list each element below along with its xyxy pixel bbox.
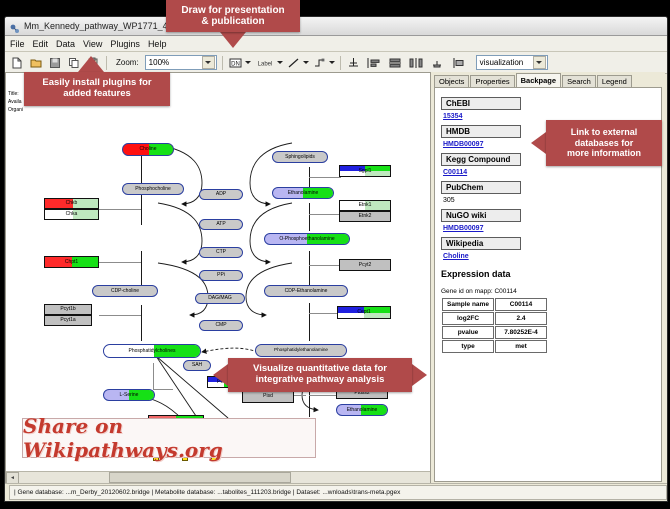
node-etnk1[interactable]: Etnk1 (339, 200, 391, 211)
tab-backpage[interactable]: Backpage (516, 73, 561, 87)
node-pcyt2[interactable]: Pcyt2 (339, 259, 391, 271)
section-header-nugo: NuGO wiki (441, 209, 521, 222)
cell-label: type (442, 340, 494, 353)
share-banner: Share on Wikipathways.org (22, 418, 316, 458)
node-cdp-ethanolamine[interactable]: CDP-Ethanolamine (264, 285, 348, 297)
gene-connector (153, 389, 173, 390)
menu-view[interactable]: View (83, 39, 102, 49)
gene-connector (99, 262, 141, 263)
zoom-value: 100% (149, 58, 169, 67)
status-text: | Gene database: ...m_Derby_20120602.bri… (9, 485, 667, 500)
section-header-kegg: Kegg Compound (441, 153, 521, 166)
distribute-icon[interactable] (407, 55, 425, 71)
callout-draw: Draw for presentation & publication (166, 0, 300, 32)
callout-visualize-line1: Visualize quantitative data for (253, 363, 387, 374)
tab-objects[interactable]: Objects (434, 75, 469, 87)
chevron-down-icon[interactable] (533, 56, 546, 69)
callout-visualize-arrow-right-icon (412, 364, 427, 386)
canvas-hscrollbar[interactable]: ◄ (6, 471, 430, 483)
statusbar: | Gene database: ...m_Derby_20120602.bri… (5, 483, 667, 501)
section-header-hmdb: HMDB (441, 125, 521, 138)
node-cmp[interactable]: CMP (199, 320, 243, 331)
node-ethanolamine[interactable]: Ethanolamine (272, 187, 334, 199)
connector-tool-icon[interactable] (312, 55, 335, 71)
edge (141, 305, 142, 341)
callout-plugins: Easily install plugins for added feature… (24, 72, 170, 106)
node-sgpl1[interactable]: Sgpl1 (339, 165, 391, 177)
callout-plugins-arrow-icon (78, 56, 104, 72)
callout-visualize: Visualize quantitative data for integrat… (228, 358, 412, 392)
table-row: Sample name C00114 (442, 298, 547, 311)
callout-link-line3: more information (567, 148, 641, 158)
open-icon[interactable] (28, 55, 44, 71)
chevron-down-icon[interactable] (202, 56, 215, 69)
node-o-phosphoethanolamine[interactable]: O-Phosphoethanolamine (264, 233, 350, 245)
edge (141, 251, 142, 285)
tab-legend[interactable]: Legend (597, 75, 632, 87)
menu-data[interactable]: Data (56, 39, 75, 49)
share-banner-text: Share on Wikipathways.org (23, 414, 315, 462)
gene-connector (309, 395, 337, 396)
section-header-chebi: ChEBI (441, 97, 521, 110)
callout-draw-arrow-icon (220, 32, 246, 48)
node-phosphocholine[interactable]: Phosphocholine (122, 183, 184, 195)
line-tool-icon[interactable] (286, 55, 309, 71)
window-titlebar: Mm_Kennedy_pathway_WP1771_45176.gpml (5, 17, 667, 36)
group-icon[interactable] (428, 55, 446, 71)
node-choline-top[interactable]: Choline (122, 143, 174, 156)
callout-link-line2: databases for (575, 138, 634, 148)
gene-connector (309, 177, 341, 178)
node-cept1[interactable]: Cept1 (337, 306, 391, 319)
node-etnk2[interactable]: Etnk2 (339, 211, 391, 222)
save-icon[interactable] (47, 55, 63, 71)
gene-connector (309, 265, 341, 266)
svg-text:DN: DN (231, 61, 240, 67)
gene-id-line: Gene id on mapp: C00114 (441, 288, 657, 295)
node-phosphatidylethanolamine[interactable]: Phosphatidylethanolamine (255, 344, 347, 357)
node-dagmag[interactable]: DAG/MAG (195, 293, 245, 304)
node-phosphatidylcholines[interactable]: Phosphatidylcholines (103, 344, 201, 358)
app-icon (9, 21, 20, 32)
gene-connector (309, 313, 337, 314)
edge (309, 251, 310, 285)
visualization-value: visualization (480, 58, 524, 67)
node-ppi[interactable]: PPi (199, 270, 243, 281)
table-row: type met (442, 340, 547, 353)
cell-label: Sample name (442, 298, 494, 311)
pubchem-value: 305 (443, 197, 657, 204)
node-cdp-choline[interactable]: CDP-choline (92, 285, 158, 297)
edge (141, 193, 142, 225)
new-icon[interactable] (9, 55, 25, 71)
cell-value: 2.4 (495, 312, 547, 325)
node-chpt1[interactable]: Chpt1 (44, 256, 99, 268)
callout-link-arrow-icon (531, 132, 546, 154)
node-sphingolipids[interactable]: Sphingolipids (272, 151, 328, 163)
callout-draw-line2: & publication (201, 16, 264, 27)
section-header-pubchem: PubChem (441, 181, 521, 194)
scroll-thumb[interactable] (109, 472, 291, 483)
menu-plugins[interactable]: Plugins (110, 39, 140, 49)
zoom-combobox[interactable]: 100% (145, 55, 217, 70)
toolbar-separator (222, 56, 223, 70)
gene-connector (99, 209, 141, 210)
align-stack-icon[interactable] (386, 55, 404, 71)
gene-connector (309, 214, 341, 215)
callout-draw-line1: Draw for presentation (181, 5, 284, 16)
cell-value: C00114 (495, 298, 547, 311)
section-header-wikipedia: Wikipedia (441, 237, 521, 250)
anchor-icon[interactable] (346, 55, 362, 71)
table-row: log2FC 2.4 (442, 312, 547, 325)
callout-visualize-line2: integrative pathway analysis (256, 374, 385, 385)
callout-visualize-arrow-icon (213, 364, 228, 386)
table-row: pvalue 7.80252E-4 (442, 326, 547, 339)
node-atp[interactable]: ATP (199, 219, 243, 230)
node-l-serine-left[interactable]: L-Serine (103, 389, 155, 401)
label-tool[interactable]: Label (254, 55, 283, 71)
toolbar-separator (106, 56, 107, 70)
tab-search[interactable]: Search (562, 75, 596, 87)
order-icon[interactable] (449, 55, 467, 71)
expression-table: Sample name C00114 log2FC 2.4 pvalue 7.8… (441, 297, 548, 354)
cell-value: 7.80252E-4 (495, 326, 547, 339)
cell-value: met (495, 340, 547, 353)
node-ctp[interactable]: CTP (199, 247, 243, 258)
nugo-link[interactable]: HMDB00097 (443, 225, 657, 232)
node-adp[interactable]: ADP (199, 189, 243, 200)
cell-label: pvalue (442, 326, 494, 339)
visualization-combobox[interactable]: visualization (476, 55, 548, 70)
edge (309, 203, 310, 231)
node-chka[interactable]: Chka (44, 209, 99, 220)
toolbar-separator (340, 56, 341, 70)
menu-file[interactable]: File (10, 39, 25, 49)
menu-help[interactable]: Help (148, 39, 167, 49)
side-panel-tabs: Objects Properties Backpage Search Legen… (434, 74, 662, 87)
zoom-label: Zoom: (116, 58, 139, 67)
callout-link: Link to external databases for more info… (546, 120, 662, 166)
tab-properties[interactable]: Properties (470, 75, 514, 87)
toolbar: Zoom: 100% DN Label (5, 52, 667, 74)
datanode-tool[interactable]: DN (228, 55, 251, 71)
gene-connector (153, 363, 154, 389)
node-pcyt1a[interactable]: Pcyt1a (44, 315, 92, 326)
edge (309, 303, 310, 341)
svg-text:Label: Label (257, 61, 272, 67)
wikipedia-link[interactable]: Choline (443, 253, 657, 260)
cell-label: log2FC (442, 312, 494, 325)
expression-data-title: Expression data (441, 269, 657, 279)
node-sah[interactable]: SAH (183, 360, 211, 371)
scroll-left-icon[interactable]: ◄ (6, 472, 19, 484)
chebi-link[interactable]: 15354 (443, 113, 657, 120)
kegg-link[interactable]: C00114 (443, 169, 657, 176)
menu-edit[interactable]: Edit (33, 39, 49, 49)
align-left-icon[interactable] (365, 55, 383, 71)
callout-plugins-line2: added features (63, 88, 131, 99)
gene-connector (99, 315, 141, 316)
callout-link-line1: Link to external (571, 127, 638, 137)
screenshot-root: Mm_Kennedy_pathway_WP1771_45176.gpml Fil… (0, 0, 670, 509)
node-pcyt1b[interactable]: Pcyt1b (44, 304, 92, 315)
node-chkb[interactable]: Chkb (44, 198, 99, 209)
menubar: File Edit Data View Plugins Help (5, 36, 667, 52)
node-ethanolamine-low[interactable]: Ethanolamine (336, 404, 388, 416)
callout-plugins-line1: Easily install plugins for (42, 77, 151, 88)
